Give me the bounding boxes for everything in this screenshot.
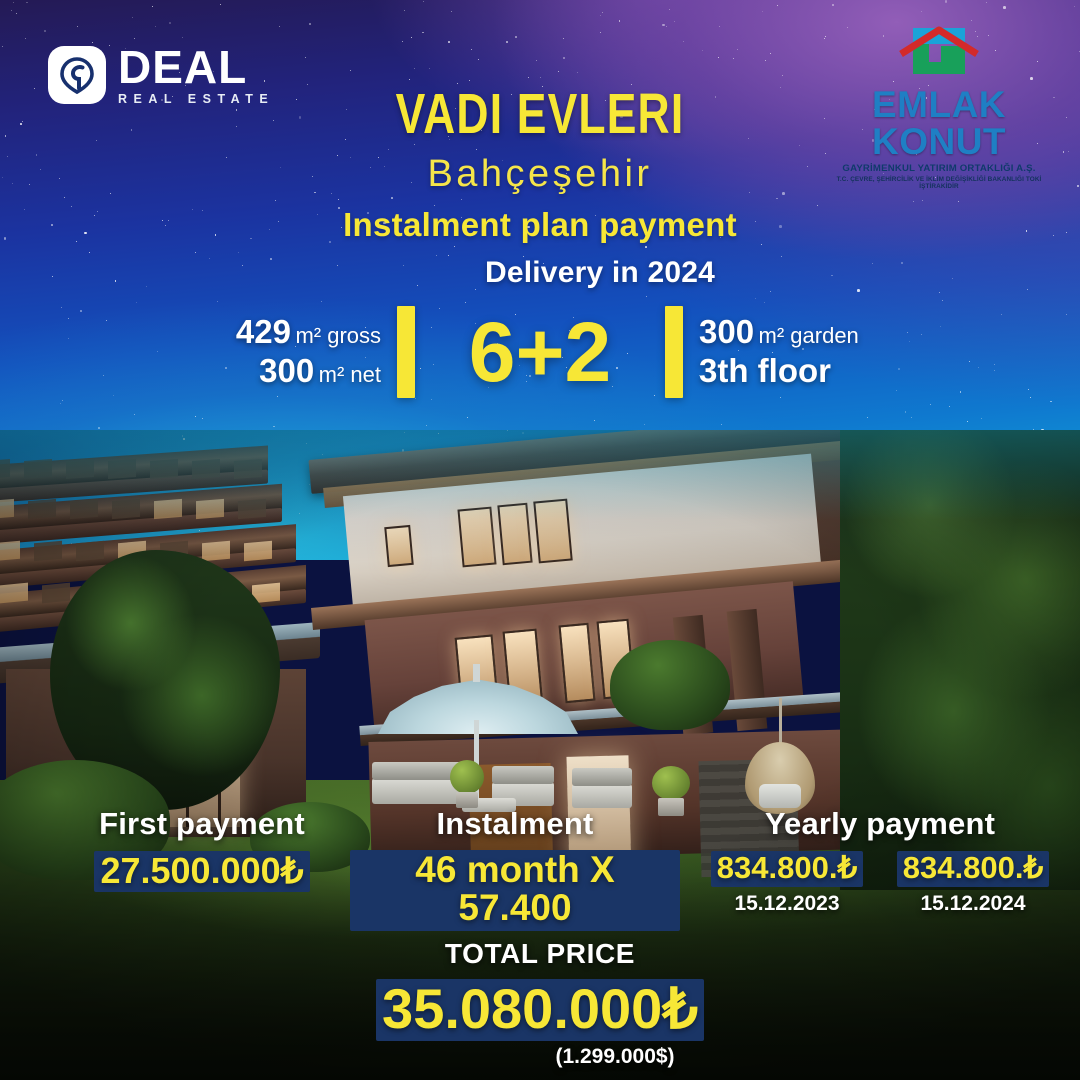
headline-block: VADI EVLERI Bahçeşehir Instalment plan p… <box>0 86 1080 290</box>
yearly-date: 15.12.2023 <box>702 892 872 916</box>
yearly-date: 15.12.2024 <box>888 892 1058 916</box>
spec-divider-right <box>665 306 683 398</box>
spec-divider-left <box>397 306 415 398</box>
hanging-chair <box>745 698 815 818</box>
emlak-konut-house-icon <box>879 24 999 84</box>
promo-poster: DEAL REAL ESTATE EMLAK KONUT GAYRİMENKUL… <box>0 0 1080 1080</box>
spec-gross-unit: m² gross <box>295 323 381 348</box>
yearly-payment-label: Yearly payment <box>690 806 1070 842</box>
spec-gross: 429 m² gross <box>167 313 381 352</box>
total-price-amount: 35.080.000₺ <box>376 979 704 1041</box>
spec-net: 300 m² net <box>167 352 381 391</box>
yearly-entry: 834.800.₺ 15.12.2023 <box>702 850 872 916</box>
yearly-entry: 834.800.₺ 15.12.2024 <box>888 850 1058 916</box>
yearly-payment-block: Yearly payment 834.800.₺ 15.12.2023 834.… <box>690 806 1070 916</box>
deal-brand-name: DEAL <box>118 44 274 90</box>
spec-room-count: 6+2 <box>415 311 665 393</box>
total-price-label: TOTAL PRICE <box>0 938 1080 970</box>
property-specs: 429 m² gross 300 m² net 6+2 300 m² garde… <box>0 306 1080 398</box>
plan-subtitle: Instalment plan payment <box>0 206 1080 244</box>
first-payment-label: First payment <box>42 806 362 842</box>
delivery-note: Delivery in 2024 <box>0 256 1080 290</box>
project-title: VADI EVLERI <box>119 86 961 143</box>
patio-umbrella <box>378 662 578 752</box>
spec-garden-unit: m² garden <box>759 323 859 348</box>
spec-gross-value: 429 <box>236 313 291 350</box>
spec-net-unit: m² net <box>319 362 381 387</box>
instalment-amount: 46 month X 57.400 <box>350 850 680 931</box>
spec-net-value: 300 <box>259 352 314 389</box>
instalment-label: Instalment <box>350 806 680 842</box>
total-price-block: TOTAL PRICE 35.080.000₺ (1.299.000$) <box>0 938 1080 1069</box>
first-payment-block: First payment 27.500.000₺ <box>42 806 362 892</box>
spec-garden: 300 m² garden <box>699 313 913 352</box>
total-price-usd: (1.299.000$) <box>0 1045 1080 1069</box>
yearly-amount: 834.800.₺ <box>711 851 863 887</box>
first-payment-amount: 27.500.000₺ <box>94 851 309 892</box>
spec-garden-value: 300 <box>699 313 754 350</box>
project-location: Bahçeşehir <box>0 153 1080 196</box>
instalment-block: Instalment 46 month X 57.400 <box>350 806 680 931</box>
yearly-amount: 834.800.₺ <box>897 851 1049 887</box>
spec-floor: 3th floor <box>699 352 913 391</box>
